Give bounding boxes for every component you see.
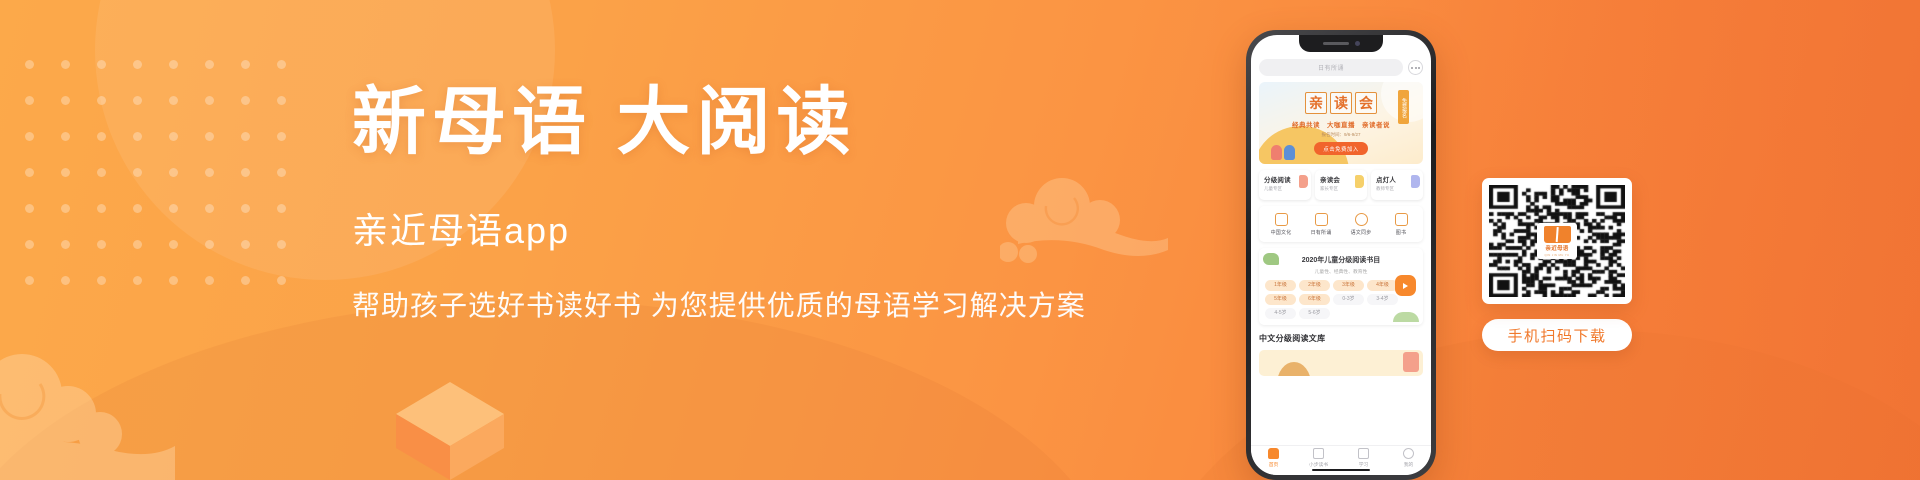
category-card-1[interactable]: 亲读会 家长专区 (1315, 170, 1367, 200)
promo-title: 亲 读 会 (1305, 92, 1377, 114)
tab-home[interactable]: 首页 (1251, 448, 1296, 468)
leaf-decoration-icon (1263, 253, 1279, 265)
logo-name: 亲近母语 (1545, 244, 1568, 252)
more-dots-icon[interactable] (1408, 60, 1423, 75)
card-chip-icon-2 (1411, 175, 1420, 188)
age-chip-3[interactable]: 5-6岁 (1299, 308, 1330, 319)
banner-tagline: 帮助孩子选好书读好书 为您提供优质的母语学习解决方案 (352, 284, 1012, 324)
user-icon (1403, 448, 1414, 459)
booklist-subtitle: 儿童性、经典性、教育性 (1265, 268, 1417, 275)
grade-chip-0[interactable]: 1年级 (1265, 280, 1296, 291)
promo-date: 报名时间：9/6-9/27 (1321, 132, 1360, 138)
app-screen-content: 日有所诵 亲 读 会 免费报名 经典共读 (1251, 35, 1431, 475)
category-card-2[interactable]: 点灯人 教师专区 (1371, 170, 1423, 200)
home-icon (1268, 448, 1279, 459)
clipboard-icon (1358, 448, 1369, 459)
tab-label-3: 我的 (1404, 461, 1414, 468)
promo-join-button[interactable]: 点击免费加入 (1314, 142, 1367, 155)
decorative-gradient-overlay (1400, 0, 1920, 480)
banner-copy: 新母语 大阅读 亲近母语app 帮助孩子选好书读好书 为您提供优质的母语学习解决… (352, 86, 1012, 324)
booklist-card: 2020年儿童分级阅读书目 儿童性、经典性、教育性 1年级 2年级 3年级 4年… (1259, 248, 1423, 325)
quick-link-label-1: 日有所诵 (1311, 229, 1332, 236)
search-input[interactable]: 日有所诵 (1259, 59, 1403, 76)
promo-feature-0: 经典共读 (1292, 119, 1320, 129)
grade-chip-4[interactable]: 5年级 (1265, 294, 1296, 305)
quick-link-1[interactable]: 日有所诵 (1301, 213, 1341, 236)
tab-label-0: 首页 (1269, 461, 1279, 468)
grade-chip-3[interactable]: 4年级 (1367, 280, 1398, 291)
age-chip-1[interactable]: 3-4岁 (1367, 294, 1398, 305)
kids-illustration-icon (1271, 145, 1295, 160)
promo-feature-2: 亲读者说 (1362, 119, 1390, 129)
grade-chip-5[interactable]: 6年级 (1299, 294, 1330, 305)
quick-link-label-2: 语文同步 (1351, 229, 1372, 236)
tab-label-1: 小步读书 (1309, 461, 1328, 468)
search-bar: 日有所诵 (1259, 59, 1423, 76)
decorative-hill-left (0, 300, 1120, 480)
card-chip-icon-0 (1299, 175, 1308, 188)
category-cards: 分级阅读 儿童专区 亲读会 家长专区 点灯人 教师专区 (1259, 170, 1423, 200)
promo-feature-1: 大咖直播 (1327, 119, 1355, 129)
decorative-dot-grid (25, 60, 313, 312)
library-illustration-icon (1277, 362, 1311, 376)
promo-char-1: 读 (1330, 92, 1352, 114)
phone-mockup: 日有所诵 亲 读 会 免费报名 经典共读 (1246, 30, 1436, 480)
phone-notch (1299, 35, 1383, 52)
library-title: 中文分级阅读文库 (1259, 333, 1423, 344)
brand-logo: 亲近母语 QIN JIN MU YU (1537, 223, 1577, 259)
grade-chip-2[interactable]: 3年级 (1333, 280, 1364, 291)
decorative-cube (392, 376, 508, 480)
quick-links-row: 中国文化 日有所诵 语文同步 图书 (1259, 206, 1423, 242)
phone-screen: 日有所诵 亲 读 会 免费报名 经典共读 (1251, 35, 1431, 475)
tab-profile[interactable]: 我的 (1386, 448, 1431, 468)
promo-char-2: 会 (1355, 92, 1377, 114)
book-logo-icon (1544, 226, 1571, 243)
promo-banner: 新母语 大阅读 亲近母语app 帮助孩子选好书读好书 为您提供优质的母语学习解决… (0, 0, 1920, 480)
category-card-0[interactable]: 分级阅读 儿童专区 (1259, 170, 1311, 200)
quick-link-3[interactable]: 图书 (1381, 213, 1421, 236)
logo-pinyin: QIN JIN MU YU (1545, 253, 1570, 257)
note-icon (1313, 448, 1324, 459)
cloud-decoration-right-icon (1000, 168, 1210, 278)
tab-reading[interactable]: 小步读书 (1296, 448, 1341, 468)
promo-ribbon-badge: 免费报名 (1398, 90, 1409, 124)
book-open-icon (1315, 213, 1328, 226)
app-name-subtitle: 亲近母语app (352, 202, 1012, 254)
library-card[interactable] (1259, 350, 1423, 376)
page-title: 新母语 大阅读 (352, 86, 1012, 160)
age-chip-0[interactable]: 0-3岁 (1333, 294, 1364, 305)
speaker-grille (1323, 42, 1349, 45)
card-chip-icon-1 (1355, 175, 1364, 188)
grade-chip-1[interactable]: 2年级 (1299, 280, 1330, 291)
promo-char-0: 亲 (1305, 92, 1327, 114)
age-chip-2[interactable]: 4-5岁 (1265, 308, 1296, 319)
quick-link-label-0: 中国文化 (1271, 229, 1292, 236)
video-play-icon[interactable] (1395, 275, 1416, 296)
qr-code-icon[interactable]: 亲近母语 QIN JIN MU YU (1482, 178, 1632, 304)
sync-icon (1355, 213, 1368, 226)
quick-link-0[interactable]: 中国文化 (1261, 213, 1301, 236)
booklist-title: 2020年儿童分级阅读书目 (1265, 255, 1417, 265)
cloud-decoration-icon (0, 342, 180, 480)
promo-features: 经典共读 大咖直播 亲读者说 (1292, 119, 1390, 129)
tab-label-2: 学习 (1359, 461, 1369, 468)
vase-icon (1275, 213, 1288, 226)
quick-link-label-3: 图书 (1396, 229, 1406, 236)
promo-card[interactable]: 亲 读 会 免费报名 经典共读 大咖直播 亲读者说 报名时间：9/6-9/27 … (1259, 82, 1423, 164)
front-camera-icon (1355, 41, 1360, 46)
books-icon (1395, 213, 1408, 226)
tab-study[interactable]: 学习 (1341, 448, 1386, 468)
qr-block: 亲近母语 QIN JIN MU YU 手机扫码下载 (1482, 178, 1642, 351)
quick-link-2[interactable]: 语文同步 (1341, 213, 1381, 236)
download-button[interactable]: 手机扫码下载 (1482, 319, 1632, 351)
home-indicator (1312, 469, 1370, 472)
library-book-icon (1403, 352, 1419, 372)
